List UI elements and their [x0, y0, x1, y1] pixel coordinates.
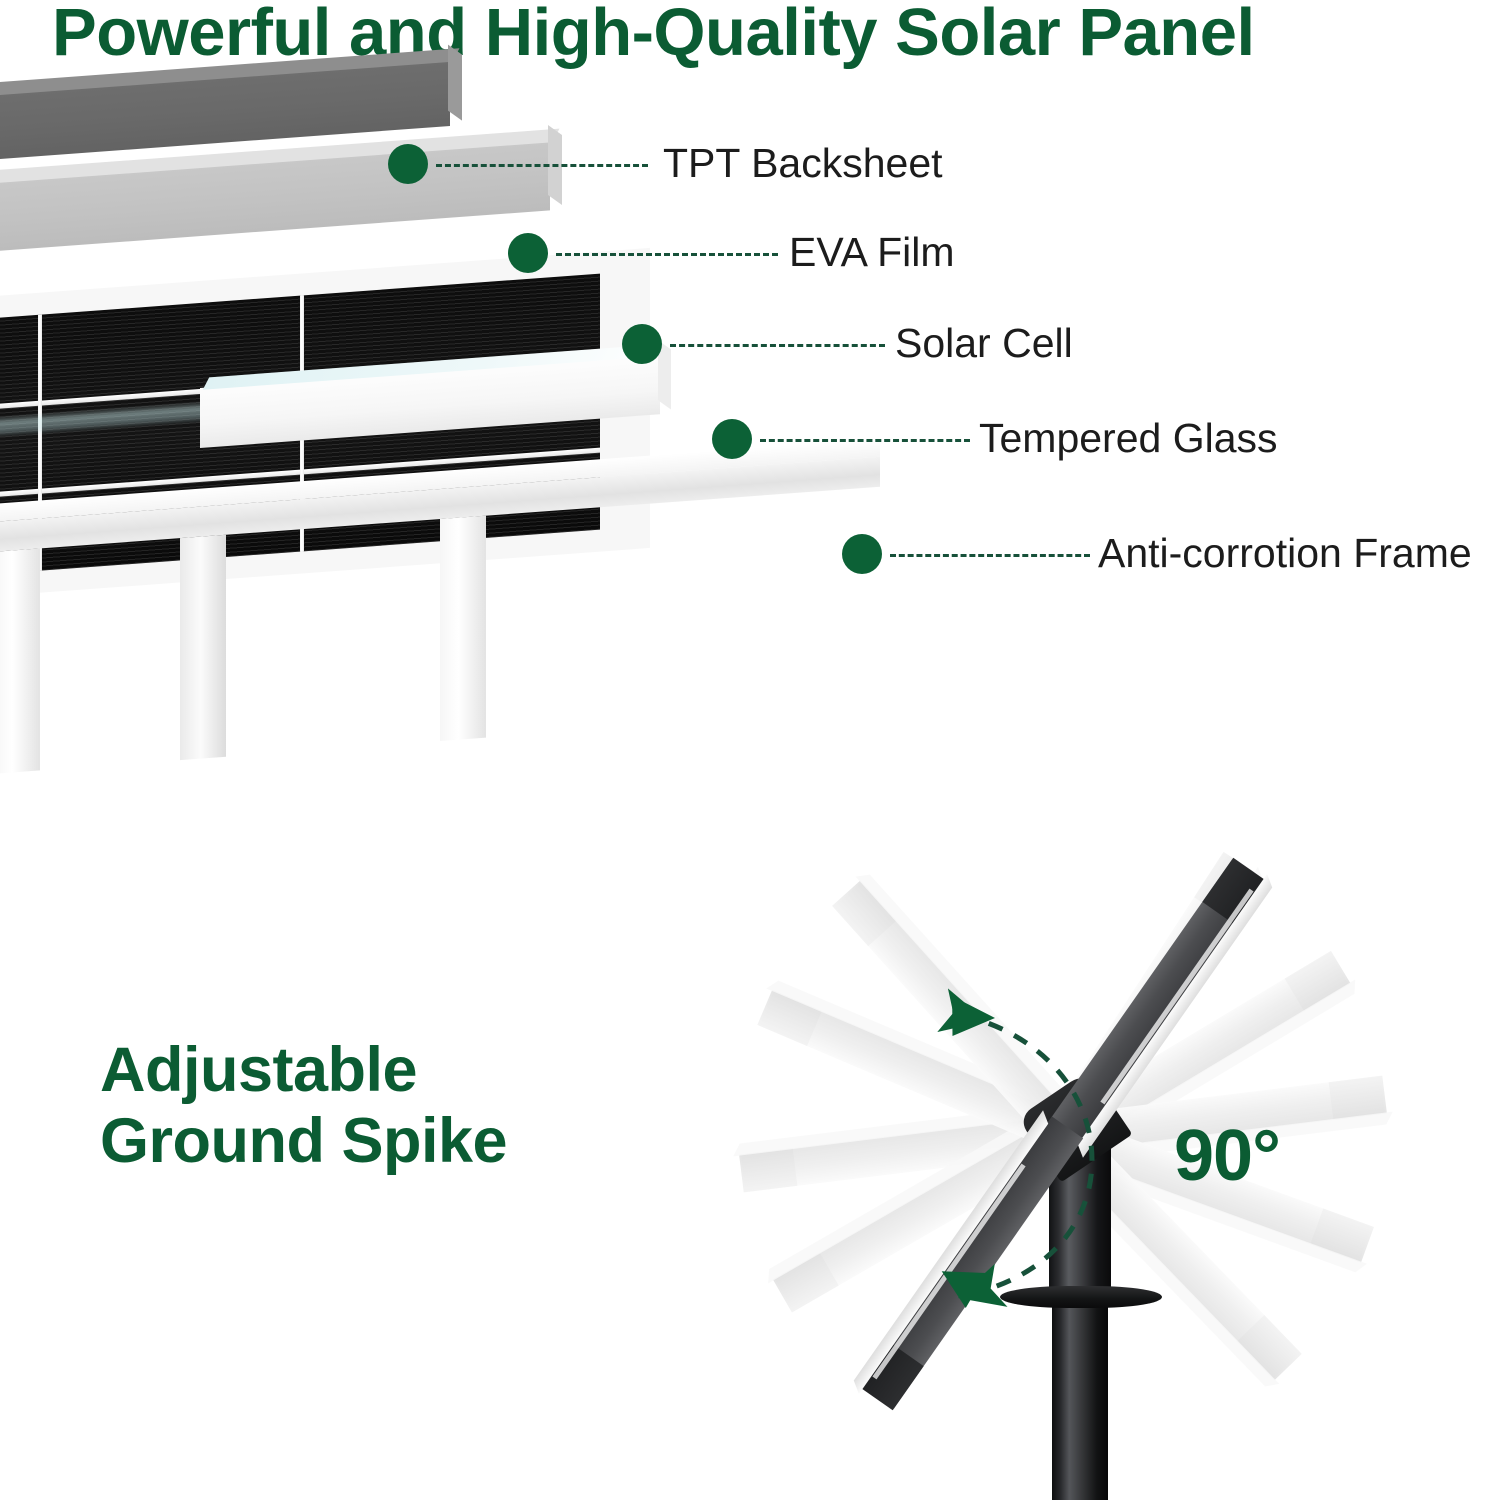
frame-leg: [440, 516, 486, 741]
callout-leader-solar-cell: [670, 344, 885, 347]
tpt-right-face: [448, 45, 462, 121]
frame-leg: [180, 535, 226, 760]
callout-leader-tempered-glass: [760, 439, 970, 442]
callout-dot-tempered-glass: [712, 419, 752, 459]
callout-label-solar-cell: Solar Cell: [895, 323, 1073, 364]
callout-dot-tpt-backsheet: [388, 144, 428, 184]
angle-value-label: 90°: [1174, 1120, 1280, 1192]
callout-label-anti-corrotion-frame: Anti-corrotion Frame: [1098, 533, 1472, 574]
ghost-arm-cap: [739, 1148, 797, 1192]
callout-label-tempered-glass: Tempered Glass: [979, 418, 1278, 459]
exploded-panel-diagram: [0, 110, 900, 760]
ground-spike-flange: [1000, 1286, 1162, 1308]
ground-spike-heading-line1: Adjustable: [100, 1035, 507, 1106]
ground-spike-heading-line2: Ground Spike: [100, 1106, 507, 1177]
layer-eva-film: [0, 140, 550, 275]
ground-spike-diagram: 90°: [640, 735, 1488, 1500]
callout-dot-solar-cell: [622, 324, 662, 364]
frame-leg: [0, 548, 40, 773]
infographic-page: Powerful and High-Quality Solar Panel: [0, 0, 1488, 1500]
callout-dot-eva-film: [508, 233, 548, 273]
ground-spike-lower-pole: [1052, 1301, 1108, 1500]
callout-leader-eva-film: [556, 253, 778, 256]
callout-label-tpt-backsheet: TPT Backsheet: [663, 143, 943, 184]
page-title: Powerful and High-Quality Solar Panel: [52, 0, 1482, 68]
ground-spike-heading: Adjustable Ground Spike: [100, 1035, 507, 1176]
callout-dot-anti-corrotion-frame: [842, 534, 882, 574]
callout-leader-tpt-backsheet: [436, 164, 648, 167]
callout-label-eva-film: EVA Film: [789, 232, 955, 273]
callout-leader-anti-corrotion-frame: [890, 554, 1090, 557]
